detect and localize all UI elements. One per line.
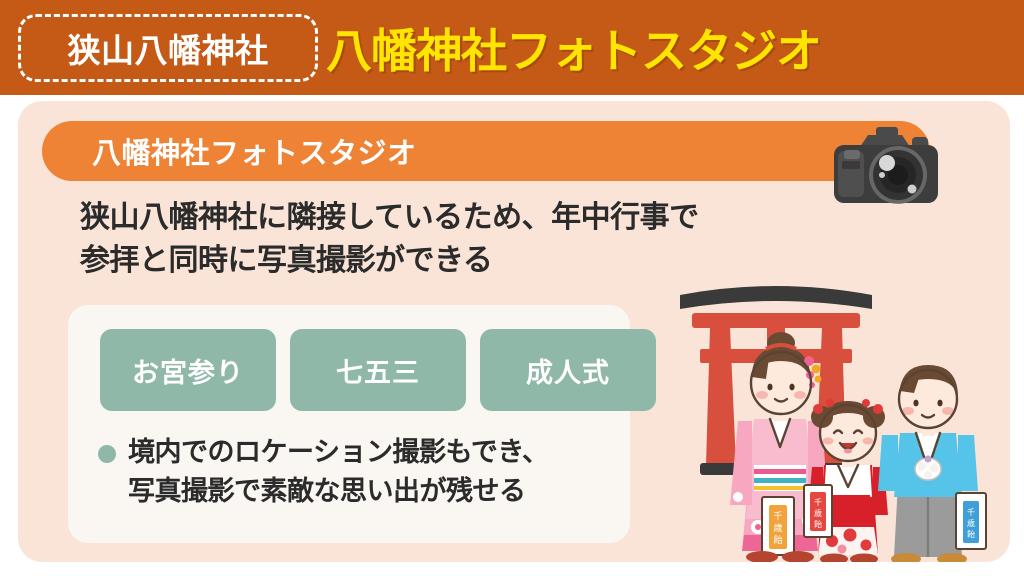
- svg-text:飴: 飴: [773, 534, 782, 546]
- candy-bag-mother: 千 歳 飴: [762, 497, 794, 555]
- candy-bag-father: 千 歳 飴: [956, 493, 986, 549]
- subtitle-pill: 八幡神社フォトスタジオ: [42, 121, 930, 181]
- ceremony-tag-shichigosan[interactable]: 七五三: [290, 329, 466, 411]
- girl-figure: 千 歳 飴: [804, 399, 888, 562]
- ceremony-tag-row: お宮参り 七五三 成人式: [100, 329, 656, 411]
- subtitle-pill-label: 八幡神社フォトスタジオ: [92, 130, 417, 172]
- page-title: 八幡神社フォトスタジオ: [326, 0, 821, 95]
- features-panel: お宮参り 七五三 成人式 境内でのロケーション撮影もでき、 写真撮影で素敵な思い…: [68, 305, 630, 543]
- bullet-dot-icon: [98, 445, 116, 463]
- lead-line-1: 狭山八幡神社に隣接しているため、年中行事で: [80, 197, 720, 240]
- content-card: 八幡神社フォトスタジオ: [18, 101, 1010, 562]
- camera-icon: [824, 117, 948, 217]
- svg-text:千: 千: [814, 497, 822, 507]
- lead-line-2: 参拝と同時に写真撮影ができる: [80, 240, 720, 283]
- svg-text:歳: 歳: [773, 522, 782, 534]
- infographic-page: 狭山八幡神社 八幡神社フォトスタジオ 八幡神社フォトスタジオ: [0, 0, 1024, 576]
- bullet-item: 境内でのロケーション撮影もでき、 写真撮影で素敵な思い出が残せる: [98, 433, 549, 512]
- svg-text:飴: 飴: [814, 519, 822, 529]
- family-kimono-torii-illustration: .ln { stroke:#5a4333; stroke-width:2.4; …: [666, 269, 1010, 562]
- lead-paragraph: 狭山八幡神社に隣接しているため、年中行事で 参拝と同時に写真撮影ができる: [80, 197, 720, 282]
- candy-bag-girl: 千 歳 飴: [804, 485, 832, 537]
- svg-text:千: 千: [967, 507, 975, 517]
- svg-text:千: 千: [773, 511, 782, 522]
- svg-text:飴: 飴: [967, 529, 975, 539]
- ceremony-tag-label: 七五三: [336, 351, 420, 390]
- site-name-badge: 狭山八幡神社: [18, 14, 318, 82]
- ceremony-tag-omiyamairi[interactable]: お宮参り: [100, 329, 276, 411]
- father-figure: 千 歳 飴: [878, 365, 986, 562]
- bullet-item-text: 境内でのロケーション撮影もでき、 写真撮影で素敵な思い出が残せる: [128, 433, 549, 512]
- svg-text:歳: 歳: [967, 518, 975, 528]
- ceremony-tag-label: お宮参り: [132, 351, 244, 390]
- header-band: 狭山八幡神社 八幡神社フォトスタジオ: [0, 0, 1024, 95]
- ceremony-tag-label: 成人式: [526, 351, 610, 390]
- site-name-badge-label: 狭山八幡神社: [68, 24, 269, 72]
- svg-text:歳: 歳: [814, 508, 822, 518]
- ceremony-tag-seijinshiki[interactable]: 成人式: [480, 329, 656, 411]
